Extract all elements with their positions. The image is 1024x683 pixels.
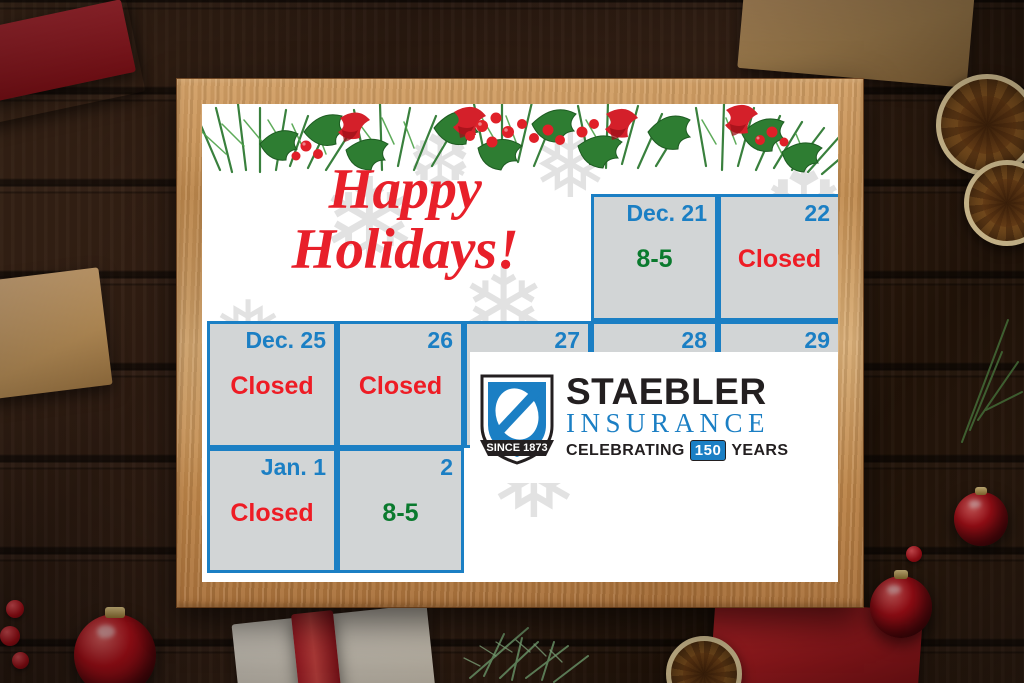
calendar-cell-dec-26: 26 Closed bbox=[337, 321, 464, 448]
cell-hours: Closed bbox=[207, 500, 337, 526]
cell-date: Dec. 25 bbox=[245, 327, 326, 354]
calendar-cell-jan-1: Jan. 1 Closed bbox=[207, 448, 337, 573]
cell-date: Jan. 1 bbox=[261, 454, 326, 481]
shield-icon: SINCE 1873 bbox=[478, 370, 556, 466]
cell-hours: 8-5 bbox=[591, 246, 718, 272]
poster-card: ❄ ❅ ❆ ❄ ❅ ❆ ❄ ❅ ❆ ❄ ❅ ❄ ❆ bbox=[202, 104, 838, 582]
logo-tagline: CELEBRATING 150 YEARS bbox=[566, 440, 838, 461]
tagline-150-badge: 150 bbox=[690, 440, 727, 461]
tagline-celebrating: CELEBRATING bbox=[566, 442, 685, 460]
cell-hours: Closed bbox=[337, 373, 464, 399]
shield-banner-text: SINCE 1873 bbox=[486, 442, 547, 454]
calendar-cell-dec-25: Dec. 25 Closed bbox=[207, 321, 337, 448]
logo-subtitle: INSURANCE bbox=[566, 409, 838, 438]
cell-date: 2 bbox=[440, 454, 453, 481]
tagline-years: YEARS bbox=[731, 442, 788, 460]
calendar-cell-jan-2: 2 8-5 bbox=[337, 448, 464, 573]
cell-date: Dec. 21 bbox=[626, 200, 707, 227]
calendar-cell-dec-22: 22 Closed bbox=[718, 194, 838, 321]
cell-hours: Closed bbox=[207, 373, 337, 399]
holiday-hours-poster: ❄ ❅ ❆ ❄ ❅ ❆ ❄ ❅ ❆ ❄ ❅ ❄ ❆ bbox=[0, 0, 1024, 683]
cell-date: 27 bbox=[554, 327, 580, 354]
cell-hours: 8-5 bbox=[337, 500, 464, 526]
calendar-cell-dec-21: Dec. 21 8-5 bbox=[591, 194, 718, 321]
cell-date: 28 bbox=[681, 327, 707, 354]
cell-date: 22 bbox=[804, 200, 830, 227]
cell-date: 26 bbox=[427, 327, 453, 354]
staebler-insurance-logo: SINCE 1873 STAEBLER INSURANCE CELEBRATIN… bbox=[470, 352, 838, 483]
cell-date: 29 bbox=[804, 327, 830, 354]
logo-company-name: STAEBLER bbox=[566, 374, 838, 410]
logo-wordmark: STAEBLER INSURANCE CELEBRATING 150 YEARS bbox=[566, 374, 838, 461]
shield-logo-icon: SINCE 1873 bbox=[478, 370, 556, 466]
cell-hours: Closed bbox=[718, 246, 838, 272]
